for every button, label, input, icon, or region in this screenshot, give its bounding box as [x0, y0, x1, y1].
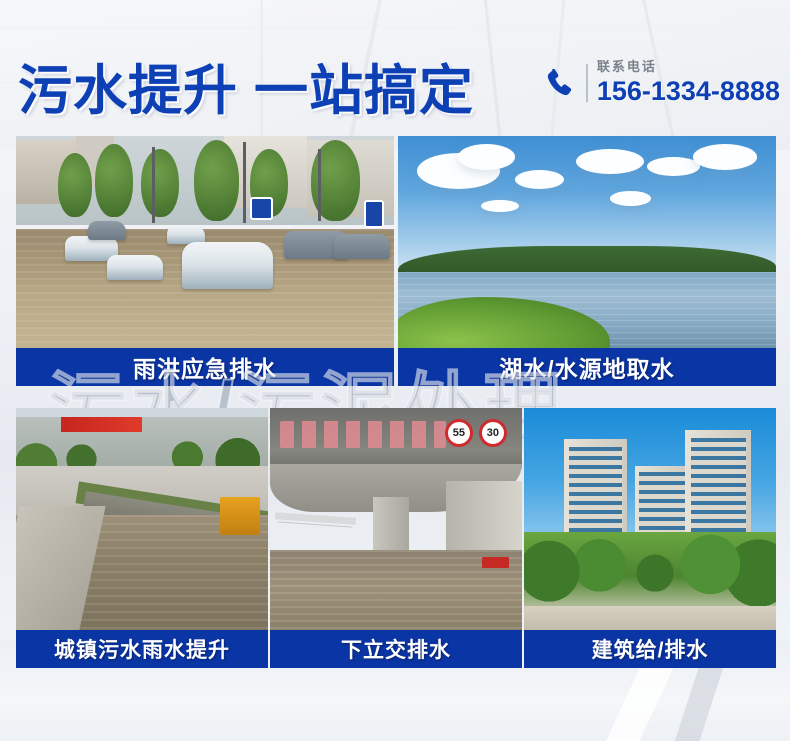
caption-urban-channel: 城镇污水雨水提升	[16, 630, 268, 668]
speed-limit-sign: 30	[479, 419, 507, 447]
gallery-card-lake[interactable]: 湖水/水源地取水	[398, 136, 776, 386]
contact-label: 联系电话	[597, 60, 780, 73]
caption-lake: 湖水/水源地取水	[398, 348, 776, 386]
caption-flood: 雨洪应急排水	[16, 348, 394, 386]
phone-icon	[543, 66, 577, 100]
caption-underpass: 下立交排水	[270, 630, 522, 668]
caption-residential: 建筑给/排水	[524, 630, 776, 668]
underpass-signs: 55 30	[445, 419, 507, 447]
photo-underpass: 55 30	[270, 408, 522, 630]
contact-text: 联系电话 156-1334-8888	[597, 60, 780, 105]
photo-lake	[398, 136, 776, 348]
gallery-card-residential[interactable]: 建筑给/排水	[524, 408, 776, 668]
gallery-card-underpass[interactable]: 55 30 下立交排水	[270, 408, 522, 668]
photo-flooded-street	[16, 136, 394, 348]
gallery-top-row: 雨洪应急排水 湖水/水源地取水	[16, 136, 776, 386]
gallery-bottom-row: 城镇污水雨水提升 55 30 下立	[16, 408, 778, 668]
gallery-card-urban-channel[interactable]: 城镇污水雨水提升	[16, 408, 268, 668]
promo-page: 污水提升 一站搞定 联系电话 156-1334-8888	[0, 0, 790, 741]
photo-residential	[524, 408, 776, 630]
photo-urban-channel	[16, 408, 268, 630]
height-limit-sign: 55	[445, 419, 473, 447]
header: 污水提升 一站搞定 联系电话 156-1334-8888	[0, 0, 790, 136]
gallery-card-flood[interactable]: 雨洪应急排水	[16, 136, 394, 386]
page-title: 污水提升 一站搞定	[18, 46, 474, 125]
contact-number[interactable]: 156-1334-8888	[597, 78, 780, 105]
contact-divider	[586, 64, 588, 102]
contact-block[interactable]: 联系电话 156-1334-8888	[543, 60, 780, 105]
